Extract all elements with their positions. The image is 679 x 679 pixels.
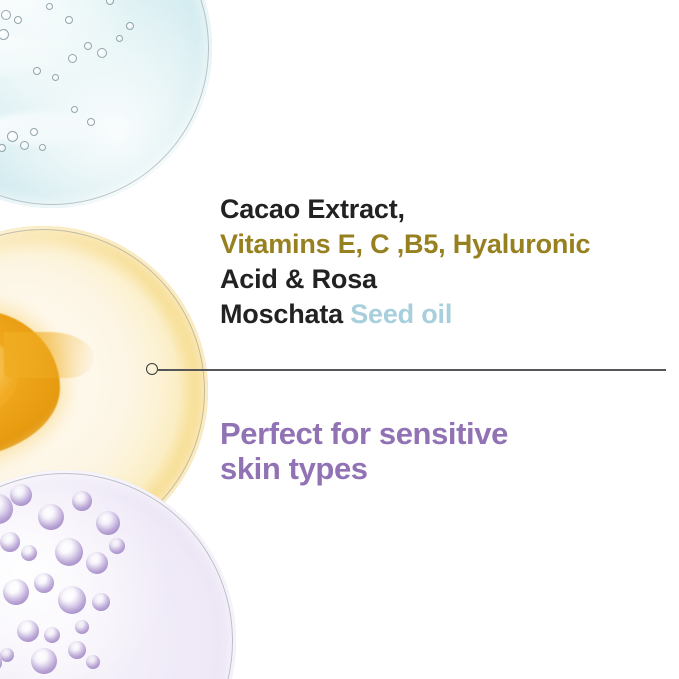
blue-gel-bubbles [0, 0, 212, 208]
ingredients-line-2: Vitamins E, C ,B5, Hyaluronic [220, 227, 660, 262]
ingredients-text-block: Cacao Extract, Vitamins E, C ,B5, Hyalur… [220, 192, 660, 332]
ingredients-line-1: Cacao Extract, [220, 192, 660, 227]
ingredients-line-3: Acid & Rosa [220, 262, 660, 297]
ingredients-line-3-text: Acid & Rosa [220, 264, 377, 294]
claim-text-block: Perfect for sensitive skin types [220, 416, 620, 486]
divider [146, 363, 666, 377]
ingredients-line-1-text: Cacao Extract, [220, 194, 405, 224]
purple-bubbles [0, 470, 236, 679]
petri-dish-column [0, 0, 240, 679]
ingredients-seed-oil-highlight: Seed oil [350, 299, 452, 329]
claim-line-2: skin types [220, 451, 620, 486]
ingredients-line-4: Moschata Seed oil [220, 297, 660, 332]
purple-bubble-petri-dish [0, 470, 236, 679]
divider-line [157, 369, 666, 371]
ingredients-line-2-text: Vitamins E, C ,B5, Hyaluronic [220, 229, 590, 259]
gold-oil-swirl [0, 310, 60, 460]
product-infographic: Cacao Extract, Vitamins E, C ,B5, Hyalur… [0, 0, 679, 679]
claim-line-1: Perfect for sensitive [220, 416, 620, 451]
blue-gel-petri-dish [0, 0, 212, 208]
ingredients-line-4-text: Moschata [220, 299, 350, 329]
